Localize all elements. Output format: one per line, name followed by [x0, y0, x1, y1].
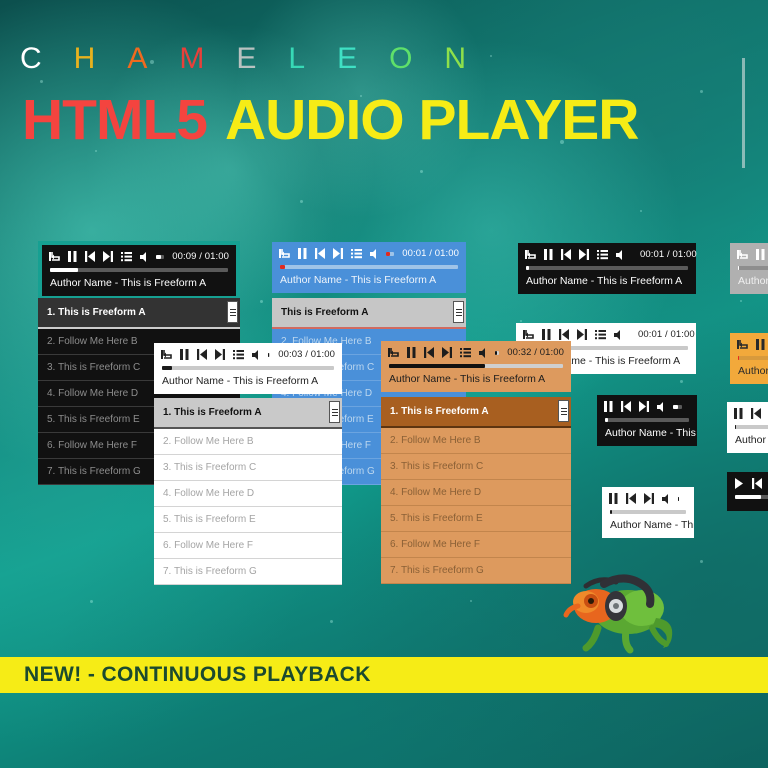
next-icon[interactable] [644, 493, 654, 504]
seek-bar-fill [605, 418, 608, 422]
title-html5: HTML5 [22, 88, 207, 152]
previous-icon[interactable] [561, 249, 571, 260]
playlist-icon[interactable] [233, 349, 244, 360]
control-bar [727, 402, 768, 421]
seek-bar[interactable] [735, 495, 768, 499]
playlist-item[interactable]: 7. This is Freeform G [381, 558, 571, 584]
volume-slider[interactable] [495, 351, 499, 355]
audio-player: Author Name - This is [727, 402, 768, 453]
now-playing-label: Author Name [730, 360, 768, 384]
seek-bar[interactable] [280, 265, 458, 269]
playlist-item[interactable]: 2. Follow Me Here B [154, 429, 342, 455]
previous-icon[interactable] [197, 349, 207, 360]
volume-icon[interactable] [657, 402, 665, 412]
pause-icon[interactable] [734, 408, 743, 419]
bokeh-dot [740, 300, 742, 302]
seek-bar-fill [610, 510, 612, 514]
promo-banner: NEW! - CONTINUOUS PLAYBACK [0, 657, 768, 693]
volume-slider-fill [673, 405, 678, 409]
control-bar [597, 395, 697, 414]
volume-slider[interactable] [673, 405, 682, 409]
play-icon[interactable] [734, 478, 744, 489]
now-playing-label: Author Name - This is Freeform A [518, 270, 696, 294]
volume-icon[interactable] [616, 250, 624, 260]
next-icon[interactable] [103, 251, 113, 262]
repeat-icon[interactable] [388, 347, 399, 358]
next-icon[interactable] [333, 248, 343, 259]
player-controls-panel: Author Name [730, 243, 768, 294]
pause-icon[interactable] [756, 249, 765, 260]
control-bar: 00:01 / 01:00 [518, 243, 696, 262]
playlist-item[interactable]: 1. This is Freeform A [381, 397, 571, 428]
pause-icon[interactable] [544, 249, 553, 260]
volume-slider[interactable] [268, 353, 270, 357]
seek-bar[interactable] [50, 268, 228, 272]
next-icon[interactable] [442, 347, 452, 358]
now-playing-label: Author Name - This i [602, 514, 694, 538]
playlist-item[interactable]: 4. Follow Me Here D [154, 481, 342, 507]
playlist-item[interactable]: 4. Follow Me Here D [381, 480, 571, 506]
brand-letter: C [20, 44, 43, 74]
seek-bar[interactable] [605, 418, 689, 422]
playlist-scrollbar[interactable] [227, 301, 238, 323]
previous-icon[interactable] [752, 478, 762, 489]
repeat-icon[interactable] [737, 339, 748, 350]
volume-slider-fill [156, 255, 161, 259]
volume-slider-fill [495, 351, 497, 355]
player-controls-panel: Author Name - This is [727, 402, 768, 453]
pause-icon[interactable] [68, 251, 77, 262]
brand-letter: E [236, 44, 257, 74]
pause-icon[interactable] [298, 248, 307, 259]
brand-letter: O [389, 44, 413, 74]
repeat-icon[interactable] [525, 249, 536, 260]
brand-letter: L [288, 44, 306, 74]
volume-icon[interactable] [479, 348, 487, 358]
player-controls-panel: 00:32 / 01:00Author Name - This is Freef… [381, 341, 571, 392]
now-playing-label: Author Name - This is Freeform A [154, 370, 342, 394]
playlist-icon[interactable] [351, 248, 362, 259]
playlist-item[interactable]: 3. This is Freeform C [154, 455, 342, 481]
brand-letter: A [127, 44, 148, 74]
time-display: 00:01 / 01:00 [640, 249, 697, 260]
playlist-icon[interactable] [460, 347, 471, 358]
volume-icon[interactable] [140, 252, 148, 262]
player-controls-panel: Author Name [730, 333, 768, 384]
bokeh-dot [640, 210, 642, 212]
bokeh-dot [330, 620, 333, 623]
playlist-item[interactable]: 5. This is Freeform E [381, 506, 571, 532]
control-bar: 00:09 / 01:00 [42, 245, 236, 264]
control-bar: 00:01 / 01:00 [516, 323, 696, 342]
audio-player: 00:01 / 01:00Author Name - This is Freef… [272, 242, 466, 293]
now-playing-label: Author Name - This is [727, 429, 768, 453]
now-playing-label: Author Name [730, 270, 768, 294]
playlist: 1. This is Freeform A2. Follow Me Here B… [154, 398, 342, 585]
header-divider [742, 58, 745, 168]
seek-bar[interactable] [610, 510, 686, 514]
bokeh-dot [520, 320, 522, 322]
next-icon[interactable] [639, 401, 649, 412]
time-display: 00:01 / 01:00 [402, 248, 459, 259]
volume-slider-fill [268, 353, 269, 357]
playlist-item[interactable]: 5. This is Freeform E [154, 507, 342, 533]
bokeh-dot [680, 380, 683, 383]
seek-bar-fill [280, 265, 285, 269]
previous-icon[interactable] [559, 329, 569, 340]
audio-player: 00:09 / 01:00Author Name - This is Freef… [38, 241, 240, 300]
bokeh-dot [300, 200, 303, 203]
bokeh-dot [700, 560, 703, 563]
brand-letter: N [444, 44, 467, 74]
seek-bar[interactable] [738, 356, 768, 360]
time-display: 00:01 / 01:00 [638, 329, 695, 340]
audio-player: 00:03 / 01:00Author Name - This is Freef… [154, 343, 342, 394]
previous-icon[interactable] [424, 347, 434, 358]
seek-bar[interactable] [162, 366, 334, 370]
playlist-item[interactable]: 2. Follow Me Here B [381, 428, 571, 454]
bokeh-dot [90, 600, 93, 603]
time-display: 00:32 / 01:00 [507, 347, 564, 358]
next-icon[interactable] [579, 249, 589, 260]
page-title: HTML5AUDIO PLAYER [0, 92, 768, 149]
seek-bar-fill [738, 266, 739, 270]
previous-icon[interactable] [751, 408, 761, 419]
playlist-item[interactable]: This is Freeform A [272, 298, 466, 329]
next-icon[interactable] [577, 329, 587, 340]
repeat-icon[interactable] [279, 248, 290, 259]
playlist-item[interactable]: 1. This is Freeform A [154, 398, 342, 429]
playlist-scrollbar[interactable] [329, 401, 340, 423]
previous-icon[interactable] [626, 493, 636, 504]
playlist: 1. This is Freeform A2. Follow Me Here B… [381, 397, 571, 584]
player-controls-panel: Author Name - This is [597, 395, 697, 446]
brand-letter: H [74, 44, 97, 74]
brand-letter: E [337, 44, 358, 74]
playlist-icon[interactable] [597, 249, 608, 260]
playlist-item[interactable]: 6. Follow Me Here F [154, 533, 342, 559]
repeat-icon[interactable] [161, 349, 172, 360]
playlist-icon[interactable] [595, 329, 606, 340]
now-playing-label [727, 499, 768, 511]
pause-icon[interactable] [756, 339, 765, 350]
previous-icon[interactable] [621, 401, 631, 412]
pause-icon[interactable] [180, 349, 189, 360]
player-controls-panel [727, 472, 768, 511]
player-controls-panel: 00:03 / 01:00Author Name - This is Freef… [154, 343, 342, 394]
audio-player: 00:01 / 01:00Author Name - This is Freef… [518, 243, 696, 294]
seek-bar-fill [526, 266, 529, 270]
seek-bar-fill [162, 366, 172, 370]
control-bar [727, 472, 768, 491]
seek-bar-fill [50, 268, 78, 272]
playlist-icon[interactable] [121, 251, 132, 262]
volume-slider[interactable] [678, 497, 679, 501]
time-display: 00:03 / 01:00 [278, 349, 335, 360]
chameleon-mascot-icon [556, 566, 678, 656]
player-controls-panel: 00:01 / 01:00Author Name - This is Freef… [518, 243, 696, 294]
audio-player: Author Name [730, 243, 768, 294]
audio-player [727, 472, 768, 511]
next-icon[interactable] [215, 349, 225, 360]
seek-bar-fill [738, 356, 739, 360]
seek-bar[interactable] [735, 425, 768, 429]
player-controls-panel: Author Name - This i [602, 487, 694, 538]
player-controls-panel: 00:09 / 01:00Author Name - This is Freef… [38, 241, 240, 300]
seek-bar-fill [735, 425, 736, 429]
volume-slider[interactable] [156, 255, 164, 259]
volume-icon[interactable] [614, 330, 622, 340]
seek-bar[interactable] [389, 364, 563, 368]
seek-bar-fill [389, 364, 485, 368]
audio-player: Author Name [730, 333, 768, 384]
brand-word-chameleon: CHAMELEON [0, 44, 768, 74]
pause-icon[interactable] [604, 401, 613, 412]
pause-icon[interactable] [609, 493, 618, 504]
promo-banner-text: NEW! - CONTINUOUS PLAYBACK [0, 663, 371, 687]
volume-slider-fill [678, 497, 679, 501]
control-bar [730, 243, 768, 262]
bokeh-dot [470, 600, 472, 602]
repeat-icon[interactable] [523, 329, 534, 340]
control-bar [602, 487, 694, 506]
playlist-item[interactable]: 6. Follow Me Here F [381, 532, 571, 558]
control-bar [730, 333, 768, 352]
playlist-item[interactable]: 3. This is Freeform C [381, 454, 571, 480]
seek-bar[interactable] [526, 266, 688, 270]
now-playing-label: Author Name - This is Freeform A [42, 272, 236, 296]
control-bar: 00:01 / 01:00 [272, 242, 466, 261]
control-bar: 00:32 / 01:00 [381, 341, 571, 360]
now-playing-label: Author Name - This is Freeform A [272, 269, 466, 293]
now-playing-label: Author Name - This is Freeform A [381, 368, 571, 392]
repeat-icon[interactable] [49, 251, 60, 262]
pause-icon[interactable] [407, 347, 416, 358]
now-playing-label: Author Name - This is [597, 422, 697, 446]
playlist-scrollbar[interactable] [453, 301, 464, 323]
seek-bar[interactable] [738, 266, 768, 270]
playlist-scrollbar[interactable] [558, 400, 569, 422]
playlist-item[interactable]: 1. This is Freeform A [38, 298, 240, 329]
volume-icon[interactable] [370, 249, 378, 259]
pause-icon[interactable] [542, 329, 551, 340]
control-bar: 00:03 / 01:00 [154, 343, 342, 362]
previous-icon[interactable] [315, 248, 325, 259]
brand-letter: M [179, 44, 205, 74]
player-controls-panel: 00:01 / 01:00Author Name - This is Freef… [272, 242, 466, 293]
volume-slider-fill [386, 252, 390, 256]
header: CHAMELEON HTML5AUDIO PLAYER [0, 44, 768, 172]
previous-icon[interactable] [85, 251, 95, 262]
audio-player: Author Name - This is [597, 395, 697, 446]
audio-player: Author Name - This i [602, 487, 694, 538]
volume-slider[interactable] [386, 252, 394, 256]
seek-bar-fill [735, 495, 761, 499]
repeat-icon[interactable] [737, 249, 748, 260]
playlist-item[interactable]: 7. This is Freeform G [154, 559, 342, 585]
volume-icon[interactable] [252, 350, 260, 360]
volume-icon[interactable] [662, 494, 670, 504]
title-audio-player: AUDIO PLAYER [225, 88, 638, 152]
audio-player: 00:32 / 01:00Author Name - This is Freef… [381, 341, 571, 392]
time-display: 00:09 / 01:00 [172, 251, 229, 262]
bokeh-dot [260, 300, 263, 303]
